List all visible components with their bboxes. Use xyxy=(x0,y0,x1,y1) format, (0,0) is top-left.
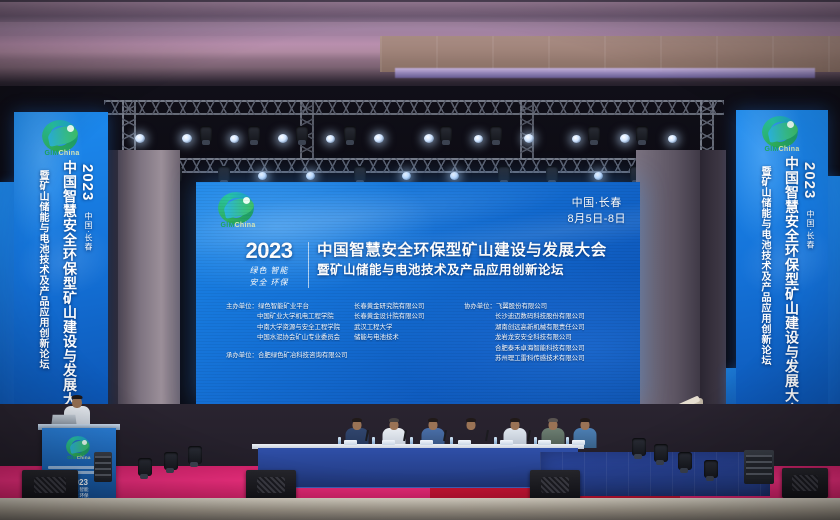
logo-wordmark: GIMChina xyxy=(758,146,806,153)
host-row: 中国矿业大学机电工程学院 xyxy=(226,312,347,322)
host-row: 中国水泥协会矿山专业委员会 xyxy=(226,333,347,343)
floor-moving-light xyxy=(678,452,692,470)
water-bottle xyxy=(372,437,375,444)
water-bottle xyxy=(566,437,569,444)
stage-lamp xyxy=(230,135,239,143)
stage-lamp xyxy=(524,134,534,143)
logo-wordmark: GIMChina xyxy=(38,150,86,157)
title-divider xyxy=(308,242,309,288)
host-value: 绿色智能矿业平台 xyxy=(258,303,309,310)
organizer-column-hosts2: 长春黄金研究院有限公司 长春黄金设计院有限公司 武汉工程大学 储能与电池技术 xyxy=(354,302,424,344)
person-hair xyxy=(580,418,590,423)
stage-monitor-speaker xyxy=(782,468,828,498)
host-value: 储能与电池技术 xyxy=(354,333,424,343)
organizer-column-hosts: 主办单位：绿色智能矿业平台 中国矿业大学机电工程学院 中南大学资源与安全工程学院… xyxy=(226,302,347,361)
host-value: 中国矿业大学机电工程学院 xyxy=(257,313,334,320)
floor-moving-light xyxy=(188,446,202,464)
right-banner-title-sub: 暨矿山储能与电池技术及产品应用创新论坛 xyxy=(757,166,772,366)
logo-wordmark-suffix: China xyxy=(235,222,256,229)
stage-lamp xyxy=(668,135,677,143)
conference-stage-photo: GIMChina 中国·长春 8月5日-8日 2023 绿色 智能 安全 环保 … xyxy=(0,0,840,520)
moving-head-light xyxy=(636,126,648,142)
moving-head-light xyxy=(218,166,230,182)
floor-moving-light xyxy=(632,438,646,456)
water-bottle xyxy=(410,437,413,444)
right-banner-venue: 中国·长春 xyxy=(805,210,816,250)
stage-lamp xyxy=(135,134,145,143)
left-banner-venue: 中国·长春 xyxy=(83,212,94,252)
host-value: 中南大学资源与安全工程学院 xyxy=(257,324,340,331)
moving-head-light xyxy=(200,126,212,142)
name-plate xyxy=(420,440,433,445)
organizer-row: 承办单位：合肥绿色矿冶科技咨询有限公司 xyxy=(226,351,347,361)
person-hair xyxy=(72,395,83,400)
coorganizer-value: 合肥泰禾卓海智能科技有限公司 xyxy=(464,344,584,354)
water-bottle xyxy=(338,437,341,444)
logo-dot xyxy=(67,125,74,132)
coorganizer-value: 苏州理工雷科传感技术有限公司 xyxy=(464,354,584,364)
stage-lamp xyxy=(424,134,434,143)
stage-lamp xyxy=(258,172,267,180)
name-plate xyxy=(572,440,585,445)
right-banner-logo: GIMChina xyxy=(758,116,806,156)
stage-lamp xyxy=(402,172,411,180)
moving-head-light xyxy=(490,126,502,142)
water-bottle xyxy=(450,437,453,444)
stage-monitor-speaker xyxy=(22,470,78,500)
person-hair xyxy=(428,418,438,423)
stage-lamp xyxy=(326,135,335,143)
screen-gim-logo: GIMChina xyxy=(214,192,262,232)
coorganizer-label: 协办单位： xyxy=(464,303,496,310)
floor-moving-light xyxy=(654,444,668,462)
organizer-column-coorganizers: 协办单位：飞翼股份有限公司 长沙迪迈数码科技股份有限公司 湖南创远高新机械有限责… xyxy=(464,302,584,364)
coorganizer-value: 长沙迪迈数码科技股份有限公司 xyxy=(464,312,584,322)
year-column: 2023 绿色 智能 安全 环保 xyxy=(236,240,308,290)
coorganizer-value: 龙岩龙安安全科技有限公司 xyxy=(464,333,584,343)
logo-wordmark-main: GIM xyxy=(764,146,778,153)
host-row: 主办单位：绿色智能矿业平台 xyxy=(226,302,347,312)
moving-head-light xyxy=(498,166,510,182)
right-banner-title-main: 中国智慧安全环保型矿山建设与发展大会 xyxy=(782,156,802,417)
logo-wordmark: GIMChina xyxy=(214,222,262,229)
logo-dot xyxy=(243,197,250,204)
coorganizer-value: 飞翼股份有限公司 xyxy=(496,303,547,310)
person-hair xyxy=(510,418,520,423)
event-slogan: 绿色 智能 安全 环保 xyxy=(236,265,302,290)
right-banner-year: 2023 xyxy=(801,162,818,199)
hall-ceiling xyxy=(0,0,840,96)
moving-head-light xyxy=(546,166,558,182)
host-value: 中国水泥协会矿山专业委员会 xyxy=(257,334,340,341)
person-hair xyxy=(548,418,558,423)
stage-monitor-speaker xyxy=(530,470,580,500)
logo-wordmark-suffix: China xyxy=(779,146,800,153)
person-hair xyxy=(389,418,399,423)
host-value: 长春黄金设计院有限公司 xyxy=(354,312,424,322)
stage-lamp xyxy=(594,172,603,180)
logo-wordmark-main: GIM xyxy=(67,455,76,460)
logo-wordmark-main: GIM xyxy=(44,150,58,157)
equipment-rack xyxy=(744,450,774,484)
water-bottle xyxy=(494,437,497,444)
coorganizer-value: 湖南创远高新机械有限责任公司 xyxy=(464,323,584,333)
name-plate xyxy=(538,440,551,445)
person-hair xyxy=(466,418,476,423)
moving-head-light xyxy=(440,126,452,142)
moving-head-light xyxy=(296,126,308,142)
logo-wordmark-suffix: China xyxy=(77,455,91,460)
moving-head-light xyxy=(248,126,260,142)
logo-wordmark-main: GIM xyxy=(220,222,234,229)
stage-lamp xyxy=(620,134,630,143)
moving-head-light xyxy=(344,126,356,142)
event-title-sub: 暨矿山储能与电池技术及产品应用创新论坛 xyxy=(317,262,607,279)
person-hair xyxy=(352,418,362,423)
event-title-main: 中国智慧安全环保型矿山建设与发展大会 xyxy=(317,241,607,260)
stage-lamp xyxy=(374,134,384,143)
moving-head-light xyxy=(354,166,366,182)
host-value: 武汉工程大学 xyxy=(354,323,424,333)
stage-lamp xyxy=(306,172,315,180)
truss-vertical-mid-right xyxy=(520,100,534,160)
stage-lamp xyxy=(182,134,192,143)
left-banner-year: 2023 xyxy=(79,164,96,201)
floor-moving-light xyxy=(704,460,718,478)
left-banner-logo: GIMChina xyxy=(38,120,86,160)
ceiling-reflected-text xyxy=(450,66,770,78)
logo-dot xyxy=(82,440,87,445)
name-plate xyxy=(382,440,395,445)
host-label: 主办单位： xyxy=(226,303,258,310)
stage-lamp xyxy=(572,135,581,143)
moving-head-light xyxy=(588,126,600,142)
equipment-rack xyxy=(94,452,112,482)
slogan-line-2: 安全 环保 xyxy=(236,277,302,289)
slogan-line-1: 绿色 智能 xyxy=(236,265,302,277)
logo-dot xyxy=(787,121,794,128)
name-plate xyxy=(500,440,513,445)
stage-lamp xyxy=(278,134,288,143)
venue-location: 中国·长春 xyxy=(567,196,626,212)
screen-venue-block: 中国·长春 8月5日-8日 xyxy=(567,196,626,228)
event-year: 2023 xyxy=(236,240,302,262)
stage-front-ledge xyxy=(0,498,840,520)
lighting-truss-upper xyxy=(104,100,724,115)
left-banner-title-sub: 暨矿山储能与电池技术及产品应用创新论坛 xyxy=(35,170,50,370)
left-banner-title-main: 中国智慧安全环保型矿山建设与发展大会 xyxy=(60,160,80,421)
name-plate xyxy=(344,440,357,445)
logo-wordmark: GIMChina xyxy=(64,455,94,460)
floor-moving-light xyxy=(138,458,152,476)
host-value: 长春黄金研究院有限公司 xyxy=(354,302,424,312)
venue-dates: 8月5日-8日 xyxy=(567,212,626,228)
stage-monitor-speaker xyxy=(246,470,296,500)
water-bottle xyxy=(534,437,537,444)
floor-moving-light xyxy=(164,452,178,470)
main-led-screen: GIMChina 中国·长春 8月5日-8日 2023 绿色 智能 安全 环保 … xyxy=(196,182,640,404)
organizer-value: 合肥绿色矿冶科技咨询有限公司 xyxy=(258,352,347,359)
organizer-label: 承办单位： xyxy=(226,352,258,359)
coorganizer-row: 协办单位：飞翼股份有限公司 xyxy=(464,302,584,312)
title-text-group: 中国智慧安全环保型矿山建设与发展大会 暨矿山储能与电池技术及产品应用创新论坛 xyxy=(317,240,607,279)
stage-lamp xyxy=(474,135,483,143)
podium-logo: GIMChina xyxy=(64,436,94,461)
stage-lamp xyxy=(450,172,459,180)
screen-title-block: 2023 绿色 智能 安全 环保 中国智慧安全环保型矿山建设与发展大会 暨矿山储… xyxy=(236,240,607,290)
logo-wordmark-suffix: China xyxy=(59,150,80,157)
name-plate xyxy=(458,440,471,445)
host-row: 中南大学资源与安全工程学院 xyxy=(226,323,347,333)
